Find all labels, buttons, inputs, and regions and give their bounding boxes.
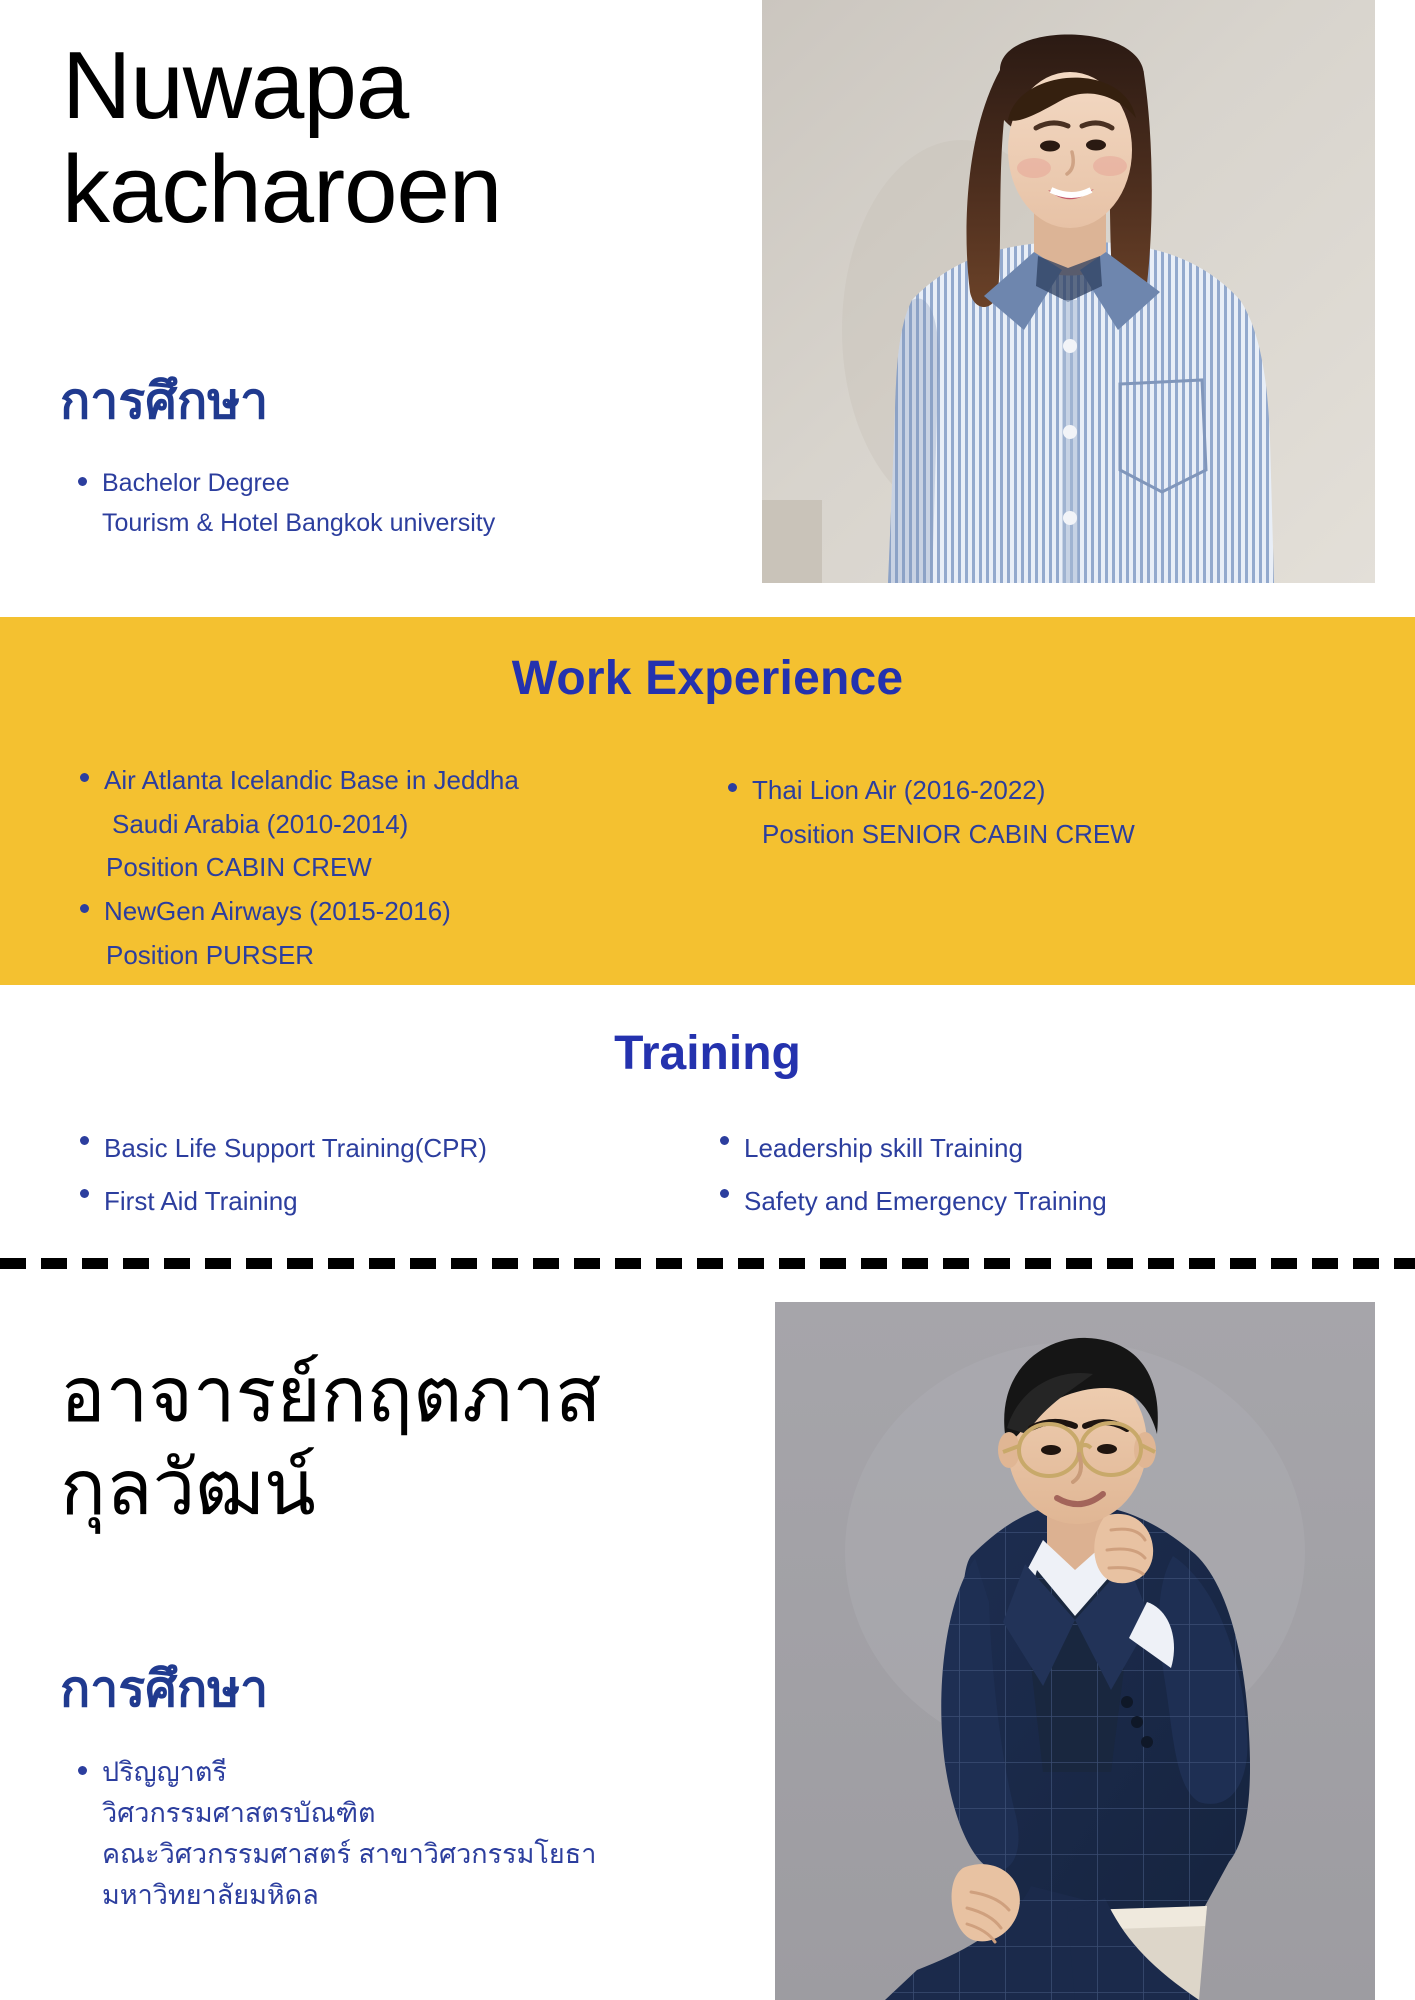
training-title: Training xyxy=(0,1026,1415,1081)
training-left-column: Basic Life Support Training(CPR) First A… xyxy=(62,1122,702,1229)
training-item-label: Safety and Emergency Training xyxy=(744,1186,1107,1216)
bullet-dot-icon xyxy=(80,773,89,782)
training-item-label: First Aid Training xyxy=(104,1186,298,1216)
list-item: ปริญญาตรี xyxy=(60,1752,760,1793)
list-item: First Aid Training xyxy=(62,1175,702,1228)
bullet-dot-icon xyxy=(80,1189,89,1198)
training-right-column: Leadership skill Training Safety and Eme… xyxy=(702,1122,1342,1229)
training-item-label: Leadership skill Training xyxy=(744,1133,1023,1163)
top-education-heading: การศึกษา xyxy=(60,374,268,429)
bottom-education-list: ปริญญาตรี วิศวกรรมศาสตรบัณฑิต คณะวิศวกรร… xyxy=(60,1752,760,1916)
work-position: Position PURSER xyxy=(62,934,662,978)
list-item: Safety and Emergency Training xyxy=(702,1175,1342,1228)
name-line-1: Nuwapa xyxy=(62,34,762,138)
list-item: Air Atlanta Icelandic Base in Jeddha xyxy=(62,759,662,803)
list-item: Bachelor Degree xyxy=(60,464,720,504)
portrait-man-illustration xyxy=(775,1302,1375,2000)
training-item-label: Basic Life Support Training(CPR) xyxy=(104,1133,487,1163)
work-experience-band: Work Experience Air Atlanta Icelandic Ba… xyxy=(0,617,1415,985)
top-education-list: Bachelor Degree Tourism & Hotel Bangkok … xyxy=(60,464,720,543)
education-faculty: คณะวิศวกรรมศาสตร์ สาขาวิศวกรรมโยธา xyxy=(60,1834,760,1875)
bullet-dot-icon xyxy=(728,783,737,792)
list-item: Thai Lion Air (2016-2022) xyxy=(710,769,1330,813)
bullet-dot-icon xyxy=(78,477,87,486)
section-divider xyxy=(0,1258,1415,1269)
name-line-2: kacharoen xyxy=(62,138,762,242)
education-degree: Bachelor Degree xyxy=(102,469,290,497)
bullet-dot-icon xyxy=(80,904,89,913)
bullet-dot-icon xyxy=(720,1189,729,1198)
bullet-dot-icon xyxy=(80,1136,89,1145)
top-person-name: Nuwapa kacharoen xyxy=(62,34,762,241)
work-experience-title: Work Experience xyxy=(0,651,1415,706)
work-location-period: Saudi Arabia (2010-2014) xyxy=(62,803,662,847)
work-position: Position CABIN CREW xyxy=(62,846,662,890)
bullet-dot-icon xyxy=(720,1136,729,1145)
education-institution: Tourism & Hotel Bangkok university xyxy=(60,504,720,544)
bottom-portrait-photo xyxy=(775,1302,1375,2000)
education-degree-full: วิศวกรรมศาสตรบัณฑิต xyxy=(60,1793,760,1834)
portrait-woman-illustration xyxy=(762,0,1375,583)
bullet-dot-icon xyxy=(78,1766,87,1775)
bottom-person-name: อาจารย์กฤตภาส กุลวัฒน์ xyxy=(60,1350,780,1535)
bottom-education-heading: การศึกษา xyxy=(60,1662,268,1717)
work-position: Position SENIOR CABIN CREW xyxy=(710,813,1330,857)
name-line-2: กุลวัฒน์ xyxy=(60,1443,780,1536)
work-experience-right-column: Thai Lion Air (2016-2022) Position SENIO… xyxy=(710,769,1330,856)
training-section: Basic Life Support Training(CPR) First A… xyxy=(0,1122,1415,1229)
resume-poster: Nuwapa kacharoen การศึกษา Bachelor Degre… xyxy=(0,0,1415,2000)
list-item: Basic Life Support Training(CPR) xyxy=(62,1122,702,1175)
work-employer: Thai Lion Air (2016-2022) xyxy=(752,775,1045,805)
top-portrait-photo xyxy=(762,0,1375,583)
list-item: Leadership skill Training xyxy=(702,1122,1342,1175)
work-experience-left-column: Air Atlanta Icelandic Base in Jeddha Sau… xyxy=(62,759,662,977)
education-university: มหาวิทยาลัยมหิดล xyxy=(60,1875,760,1916)
work-employer: NewGen Airways (2015-2016) xyxy=(104,896,451,926)
list-item: NewGen Airways (2015-2016) xyxy=(62,890,662,934)
work-employer: Air Atlanta Icelandic Base in Jeddha xyxy=(104,765,519,795)
education-degree: ปริญญาตรี xyxy=(102,1757,227,1787)
name-line-1: อาจารย์กฤตภาส xyxy=(60,1350,780,1443)
